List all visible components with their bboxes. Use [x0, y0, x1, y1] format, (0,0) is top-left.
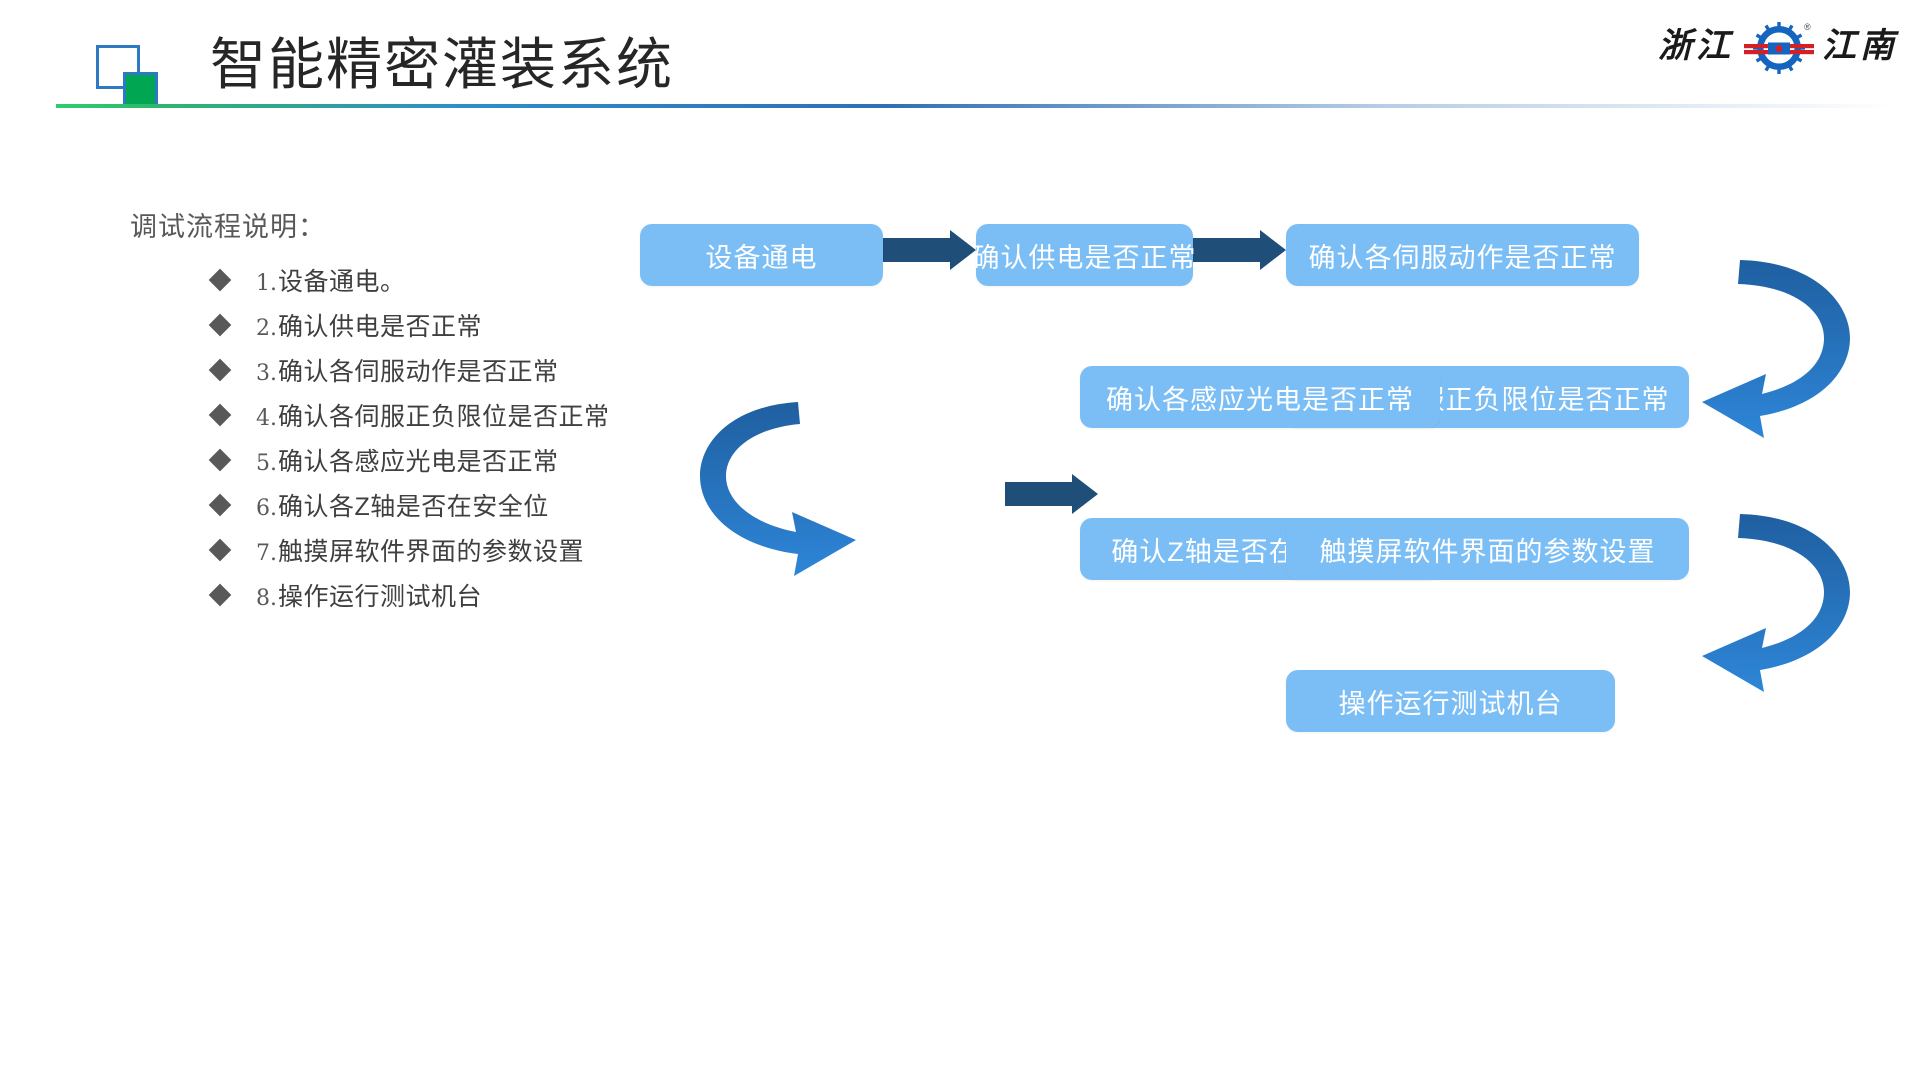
flowchart: 设备通电 确认供电是否正常 确认各伺服动作是否正常 确认各伺服正负限位是否正常 … [640, 230, 1920, 810]
connector-arrow-right [1193, 230, 1286, 270]
list-item-label: 确认供电是否正常 [278, 307, 482, 343]
company-logo-right-text: 江南 [1822, 24, 1898, 68]
connector-arrow-right [1005, 474, 1098, 514]
diamond-bullet-icon [209, 269, 232, 292]
connector-arrow-right [883, 230, 976, 270]
list-item-label: 操作运行测试机台 [278, 577, 482, 613]
company-logo: 浙江 [1658, 18, 1898, 82]
diamond-bullet-icon [209, 359, 232, 382]
list-item-label: 确认各Z轴是否在安全位 [278, 487, 549, 523]
diamond-bullet-icon [209, 494, 232, 517]
connector-arc-down-left [1702, 514, 1850, 692]
list-item-label: 触摸屏软件界面的参数设置 [278, 532, 584, 568]
flow-node-hmi-parameter-setup[interactable]: 触摸屏软件界面的参数设置 [1286, 518, 1689, 580]
flow-node-power-on[interactable]: 设备通电 [640, 224, 883, 286]
list-item-number: 8. [256, 586, 277, 611]
diamond-bullet-icon [209, 449, 232, 472]
list-item-label: 确认各感应光电是否正常 [278, 442, 559, 478]
intro-label: 调试流程说明： [130, 205, 326, 244]
list-item-number: 5. [256, 451, 277, 476]
list-item-number: 2. [256, 316, 277, 341]
list-item-number: 6. [256, 496, 277, 521]
slide-root: 智能精密灌装系统 浙江 [0, 0, 1920, 1080]
diamond-bullet-icon [209, 584, 232, 607]
diamond-bullet-icon [209, 314, 232, 337]
list-item-number: 1. [256, 271, 277, 296]
flow-node-run-test[interactable]: 操作运行测试机台 [1286, 670, 1615, 732]
left-text-panel: 调试流程说明： 1. 设备通电。 2. 确认供电是否正常 3. 确认各伺服动作是… [0, 0, 660, 1080]
diamond-bullet-icon [209, 404, 232, 427]
list-item-number: 7. [256, 541, 277, 566]
connector-arc-down-right [700, 402, 856, 576]
list-item-label: 确认各伺服动作是否正常 [278, 352, 559, 388]
company-logo-left-text: 浙江 [1658, 24, 1734, 68]
flow-node-check-supply[interactable]: 确认供电是否正常 [976, 224, 1193, 286]
list-item-label: 确认各伺服正负限位是否正常 [278, 397, 610, 433]
registered-trademark-icon: ® [1804, 22, 1811, 32]
flow-node-check-servo-motion[interactable]: 确认各伺服动作是否正常 [1286, 224, 1639, 286]
flow-node-check-photoelectric[interactable]: 确认各感应光电是否正常 [1080, 366, 1440, 428]
list-item-number: 3. [256, 361, 277, 386]
connector-arc-down-left [1702, 260, 1850, 438]
diamond-bullet-icon [209, 539, 232, 562]
list-item-number: 4. [256, 406, 277, 431]
list-item-label: 设备通电。 [278, 262, 406, 298]
